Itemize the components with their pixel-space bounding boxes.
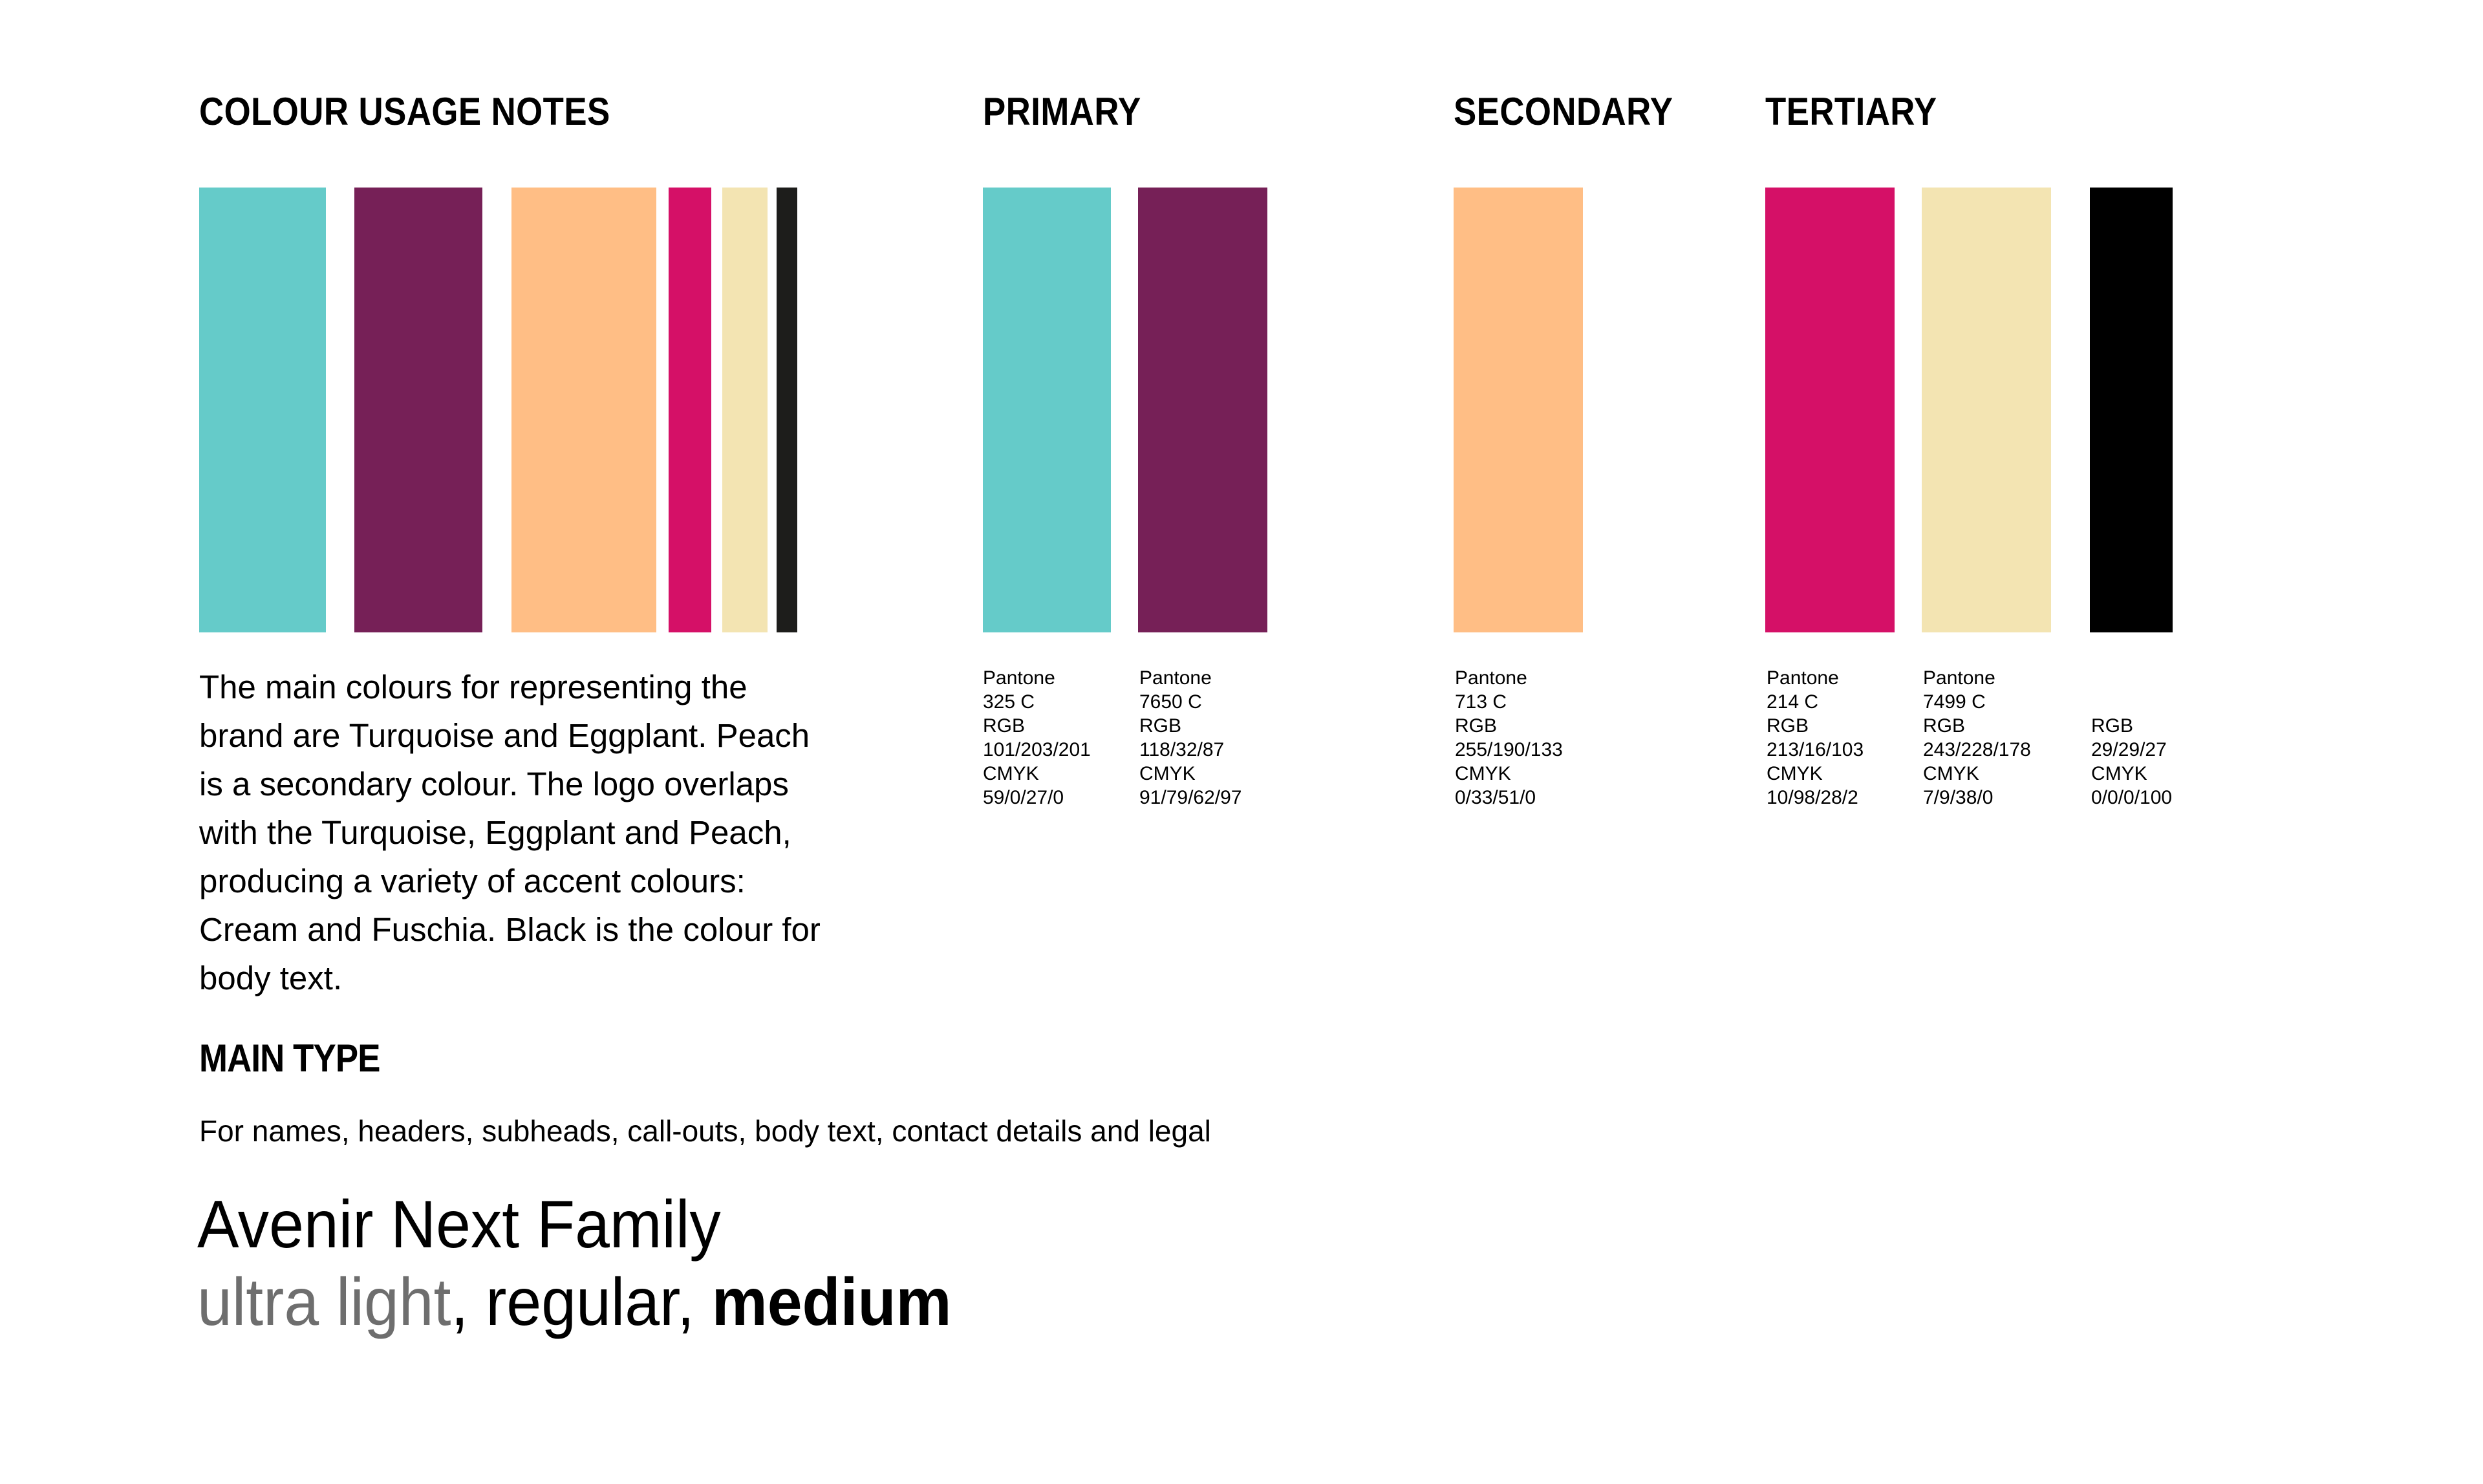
section-heading-primary: PRIMARY <box>983 92 1141 131</box>
pantone-label: Pantone <box>1767 666 1864 690</box>
usage-swatch-peach <box>511 188 656 632</box>
usage-swatch-black <box>777 188 797 632</box>
usage-swatch-fuschia <box>669 188 711 632</box>
usage-swatch-eggplant <box>354 188 482 632</box>
tertiary-spec-black: RGB 29/29/27 CMYK 0/0/0/100 <box>2091 714 2172 810</box>
cmyk-value: 7/9/38/0 <box>1923 786 2031 810</box>
rgb-label: RGB <box>1767 714 1864 738</box>
primary-swatch-turquoise <box>983 188 1111 632</box>
tertiary-spec-fuschia: Pantone 214 C RGB 213/16/103 CMYK 10/98/… <box>1767 666 1864 810</box>
rgb-label: RGB <box>1455 714 1563 738</box>
weight-regular: regular <box>486 1265 677 1340</box>
rgb-label: RGB <box>1139 714 1241 738</box>
pantone-label: Pantone <box>983 666 1091 690</box>
cmyk-label: CMYK <box>983 762 1091 786</box>
pantone-label: Pantone <box>1139 666 1241 690</box>
cmyk-value: 0/0/0/100 <box>2091 786 2172 810</box>
rgb-value: 29/29/27 <box>2091 738 2172 762</box>
rgb-value: 213/16/103 <box>1767 738 1864 762</box>
weight-separator-2: , <box>677 1265 712 1340</box>
primary-spec-turquoise: Pantone 325 C RGB 101/203/201 CMYK 59/0/… <box>983 666 1091 810</box>
rgb-value: 101/203/201 <box>983 738 1091 762</box>
tertiary-spec-cream: Pantone 7499 C RGB 243/228/178 CMYK 7/9/… <box>1923 666 2031 810</box>
cmyk-label: CMYK <box>1767 762 1864 786</box>
primary-spec-eggplant: Pantone 7650 C RGB 118/32/87 CMYK 91/79/… <box>1139 666 1241 810</box>
cmyk-label: CMYK <box>1139 762 1241 786</box>
cmyk-label: CMYK <box>2091 762 2172 786</box>
pantone-label: Pantone <box>1455 666 1563 690</box>
type-specimen-weights: ultra light, regular, medium <box>197 1266 952 1339</box>
weight-ultra-light: ultra light <box>197 1265 451 1340</box>
section-heading-secondary: SECONDARY <box>1454 92 1673 131</box>
tertiary-swatch-fuschia <box>1765 188 1895 632</box>
type-specimen-family-name: Avenir Next Family <box>197 1188 721 1261</box>
section-heading-tertiary: TERTIARY <box>1765 92 1937 131</box>
rgb-value: 243/228/178 <box>1923 738 2031 762</box>
pantone-value: 7650 C <box>1139 690 1241 714</box>
cmyk-label: CMYK <box>1455 762 1563 786</box>
weight-separator-1: , <box>451 1265 486 1340</box>
cmyk-value: 91/79/62/97 <box>1139 786 1241 810</box>
section-heading-colour-usage-notes: COLOUR USAGE NOTES <box>199 92 610 131</box>
pantone-value: 7499 C <box>1923 690 2031 714</box>
pantone-value: 214 C <box>1767 690 1864 714</box>
main-type-description: For names, headers, subheads, call-outs,… <box>199 1114 1211 1148</box>
rgb-value: 118/32/87 <box>1139 738 1241 762</box>
usage-swatch-turquoise <box>199 188 326 632</box>
rgb-label: RGB <box>983 714 1091 738</box>
primary-swatch-eggplant <box>1138 188 1267 632</box>
cmyk-value: 10/98/28/2 <box>1767 786 1864 810</box>
cmyk-value: 59/0/27/0 <box>983 786 1091 810</box>
rgb-label: RGB <box>2091 714 2172 738</box>
secondary-spec-peach: Pantone 713 C RGB 255/190/133 CMYK 0/33/… <box>1455 666 1563 810</box>
colour-usage-paragraph: The main colours for representing the br… <box>199 663 839 1002</box>
rgb-label: RGB <box>1923 714 2031 738</box>
pantone-value: 325 C <box>983 690 1091 714</box>
tertiary-swatch-cream <box>1922 188 2051 632</box>
cmyk-label: CMYK <box>1923 762 2031 786</box>
pantone-label: Pantone <box>1923 666 2031 690</box>
usage-swatch-cream <box>722 188 768 632</box>
weight-medium: medium <box>712 1265 952 1340</box>
section-heading-main-type: MAIN TYPE <box>199 1039 380 1078</box>
secondary-swatch-peach <box>1454 188 1583 632</box>
rgb-value: 255/190/133 <box>1455 738 1563 762</box>
pantone-value: 713 C <box>1455 690 1563 714</box>
cmyk-value: 0/33/51/0 <box>1455 786 1563 810</box>
tertiary-swatch-black <box>2090 188 2173 632</box>
